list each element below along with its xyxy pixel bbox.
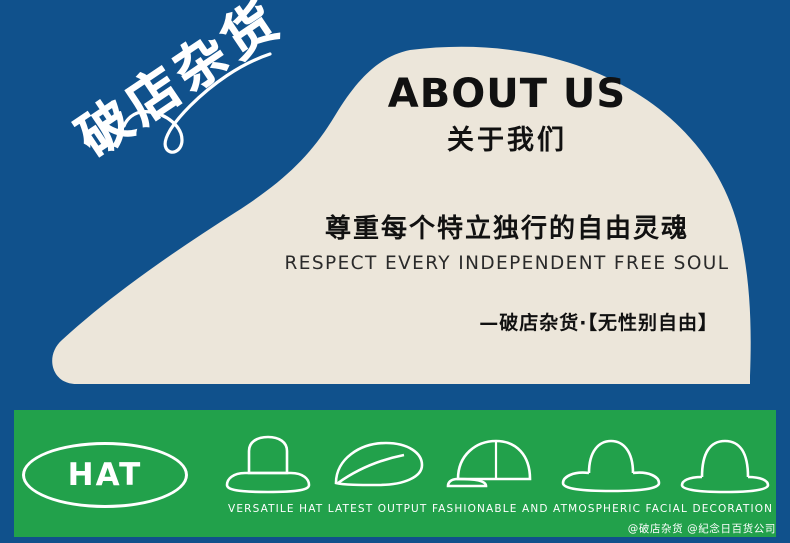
about-title-cn: 关于我们 (282, 126, 732, 156)
slogan-cn: 尊重每个特立独行的自由灵魂 (282, 208, 732, 245)
hat-badge: HAT (22, 442, 188, 508)
slogan-en: RESPECT EVERY INDEPENDENT FREE SOUL (282, 253, 732, 274)
footer-credit: @破店杂货 @紀念日百货公司 (628, 521, 776, 536)
baseball-cap-icon (446, 433, 542, 500)
hat-icon-row (225, 438, 770, 500)
about-content: ABOUT US 关于我们 尊重每个特立独行的自由灵魂 RESPECT EVER… (282, 72, 732, 335)
poster-canvas: 破店杂货 ABOUT US 关于我们 尊重每个特立独行的自由灵魂 RESPECT… (0, 0, 790, 543)
about-title-en: ABOUT US (282, 72, 732, 116)
hat-badge-label: HAT (68, 457, 143, 493)
sun-hat-icon (561, 433, 661, 500)
bucket-hat-icon (225, 433, 311, 500)
left-edge-strip (0, 410, 14, 543)
bottom-edge-strip (0, 537, 790, 543)
beret-hat-icon (330, 433, 426, 500)
bowler-hat-icon (680, 433, 770, 500)
footer-tagline: VERSATILE HAT LATEST OUTPUT FASHIONABLE … (228, 503, 773, 515)
signature-line: —破店杂货·【无性别自由】 (282, 308, 732, 335)
right-edge-strip (776, 410, 790, 543)
